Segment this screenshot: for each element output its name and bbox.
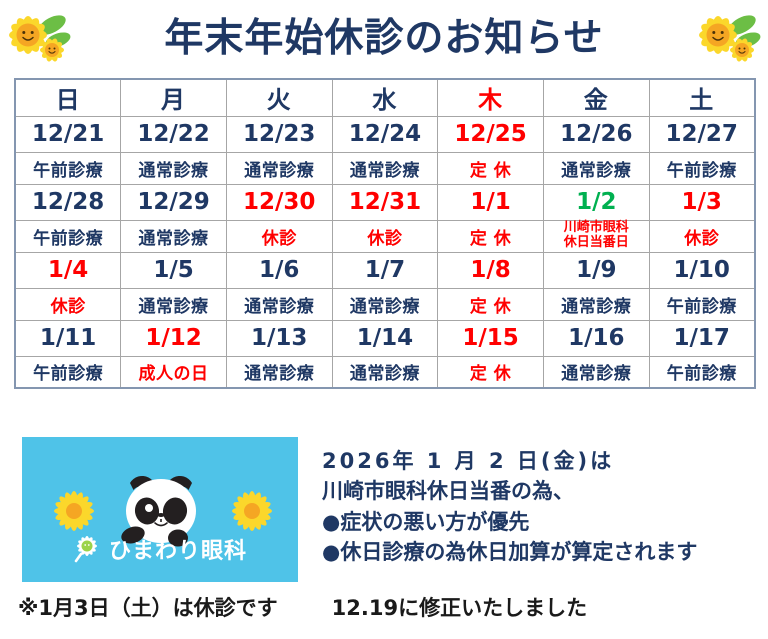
calendar-status-cell: 午前診療 [15, 356, 121, 388]
page-header: 年末年始休診のお知らせ [0, 0, 768, 76]
calendar-date-cell: 1/14 [332, 320, 438, 356]
calendar-date-cell: 1/2 [543, 184, 649, 220]
calendar-status-cell: 通常診療 [121, 220, 227, 252]
notice-line-1: 2026年 1 月 2 日(金)は [322, 446, 762, 476]
calendar-status-cell: 午前診療 [649, 288, 755, 320]
clinic-name-text: ひまわり眼科 [109, 539, 247, 564]
calendar-status-cell: 午前診療 [649, 356, 755, 388]
calendar-status-row: 午前診療通常診療通常診療通常診療定 休通常診療午前診療 [15, 152, 755, 184]
calendar-status-cell: 休診 [332, 220, 438, 252]
calendar-date-cell: 12/30 [226, 184, 332, 220]
notice-line-2: 川崎市眼科休日当番の為、 [322, 476, 762, 506]
calendar-status-cell: 午前診療 [649, 152, 755, 184]
calendar-status-cell: 午前診療 [15, 152, 121, 184]
calendar-status-cell: 成人の日 [121, 356, 227, 388]
calendar-date-cell: 1/17 [649, 320, 755, 356]
page-title: 年末年始休診のお知らせ [78, 19, 690, 58]
weekday-header-cell: 水 [332, 79, 438, 116]
duty-label-line-1: 川崎市眼科 [544, 221, 649, 236]
footer-revision: 12.19に修正いたしました [332, 592, 587, 622]
weekday-header-cell: 日 [15, 79, 121, 116]
weekday-header-cell: 月 [121, 79, 227, 116]
clinic-logo-panel: ひまわり眼科 [22, 437, 298, 582]
calendar-status-cell: 通常診療 [226, 152, 332, 184]
sunflower-icon [0, 7, 78, 69]
calendar-date-cell: 1/5 [121, 252, 227, 288]
calendar-status-cell: 定 休 [438, 152, 544, 184]
calendar-date-cell: 12/24 [332, 116, 438, 152]
calendar-date-cell: 1/6 [226, 252, 332, 288]
sunflower-magnifier-icon [73, 534, 103, 570]
calendar-status-cell: 休診 [15, 288, 121, 320]
weekday-header-cell: 土 [649, 79, 755, 116]
calendar-status-cell: 通常診療 [226, 356, 332, 388]
calendar-date-cell: 12/26 [543, 116, 649, 152]
calendar-date-cell: 12/31 [332, 184, 438, 220]
calendar-date-cell: 1/16 [543, 320, 649, 356]
calendar-date-cell: 12/29 [121, 184, 227, 220]
calendar-status-cell: 通常診療 [121, 152, 227, 184]
calendar-date-cell: 12/21 [15, 116, 121, 152]
duty-day-notice: 2026年 1 月 2 日(金)は 川崎市眼科休日当番の為、 ●症状の悪い方が優… [322, 446, 762, 568]
calendar-status-cell: 午前診療 [15, 220, 121, 252]
calendar-status-cell: 定 休 [438, 288, 544, 320]
calendar-date-cell: 1/7 [332, 252, 438, 288]
calendar-date-row: 12/2112/2212/2312/2412/2512/2612/27 [15, 116, 755, 152]
sunflower-icon [230, 489, 274, 537]
calendar-date-cell: 1/8 [438, 252, 544, 288]
calendar-date-cell: 12/23 [226, 116, 332, 152]
calendar-date-cell: 1/3 [649, 184, 755, 220]
calendar-status-cell: 通常診療 [332, 152, 438, 184]
calendar-date-row: 1/41/51/61/71/81/91/10 [15, 252, 755, 288]
calendar-status-cell: 通常診療 [226, 288, 332, 320]
sunflower-icon [690, 7, 768, 69]
clinic-name: ひまわり眼科 [22, 533, 298, 570]
notice-line-3: ●症状の悪い方が優先 [322, 507, 762, 537]
calendar-status-cell: 通常診療 [543, 288, 649, 320]
duty-label-line-2: 休日当番日 [544, 236, 649, 251]
calendar-weekday-row: 日月火水木金土 [15, 79, 755, 116]
calendar-status-row: 午前診療成人の日通常診療通常診療定 休通常診療午前診療 [15, 356, 755, 388]
calendar-date-cell: 12/22 [121, 116, 227, 152]
calendar-status-cell: 通常診療 [332, 288, 438, 320]
calendar-date-cell: 1/1 [438, 184, 544, 220]
weekday-header-cell: 金 [543, 79, 649, 116]
calendar-status-cell: 通常診療 [121, 288, 227, 320]
calendar-date-cell: 1/9 [543, 252, 649, 288]
holiday-calendar-table: 日月火水木金土12/2112/2212/2312/2412/2512/2612/… [14, 78, 756, 389]
calendar-status-cell: 定 休 [438, 356, 544, 388]
calendar-status-cell: 休診 [226, 220, 332, 252]
calendar-status-cell: 通常診療 [332, 356, 438, 388]
footer: ※1月3日（土）は休診です 12.19に修正いたしました [18, 592, 758, 622]
calendar-status-cell: 通常診療 [543, 152, 649, 184]
calendar-date-row: 12/2812/2912/3012/311/11/21/3 [15, 184, 755, 220]
calendar-status-cell: 通常診療 [543, 356, 649, 388]
calendar-date-cell: 1/15 [438, 320, 544, 356]
calendar-date-cell: 12/27 [649, 116, 755, 152]
calendar-date-cell: 1/12 [121, 320, 227, 356]
calendar-status-cell: 川崎市眼科休日当番日 [543, 220, 649, 252]
calendar-status-row: 午前診療通常診療休診休診定 休川崎市眼科休日当番日休診 [15, 220, 755, 252]
calendar-status-row: 休診通常診療通常診療通常診療定 休通常診療午前診療 [15, 288, 755, 320]
calendar-date-cell: 1/4 [15, 252, 121, 288]
weekday-header-cell: 火 [226, 79, 332, 116]
calendar-date-cell: 12/28 [15, 184, 121, 220]
calendar-date-row: 1/111/121/131/141/151/161/17 [15, 320, 755, 356]
footer-note: ※1月3日（土）は休診です [18, 592, 278, 622]
sunflower-icon [52, 489, 96, 537]
calendar-date-cell: 1/13 [226, 320, 332, 356]
calendar-date-cell: 1/11 [15, 320, 121, 356]
calendar-status-cell: 定 休 [438, 220, 544, 252]
weekday-header-cell: 木 [438, 79, 544, 116]
calendar-date-cell: 12/25 [438, 116, 544, 152]
calendar-status-cell: 休診 [649, 220, 755, 252]
calendar-date-cell: 1/10 [649, 252, 755, 288]
notice-line-4: ●休日診療の為休日加算が算定されます [322, 537, 762, 567]
